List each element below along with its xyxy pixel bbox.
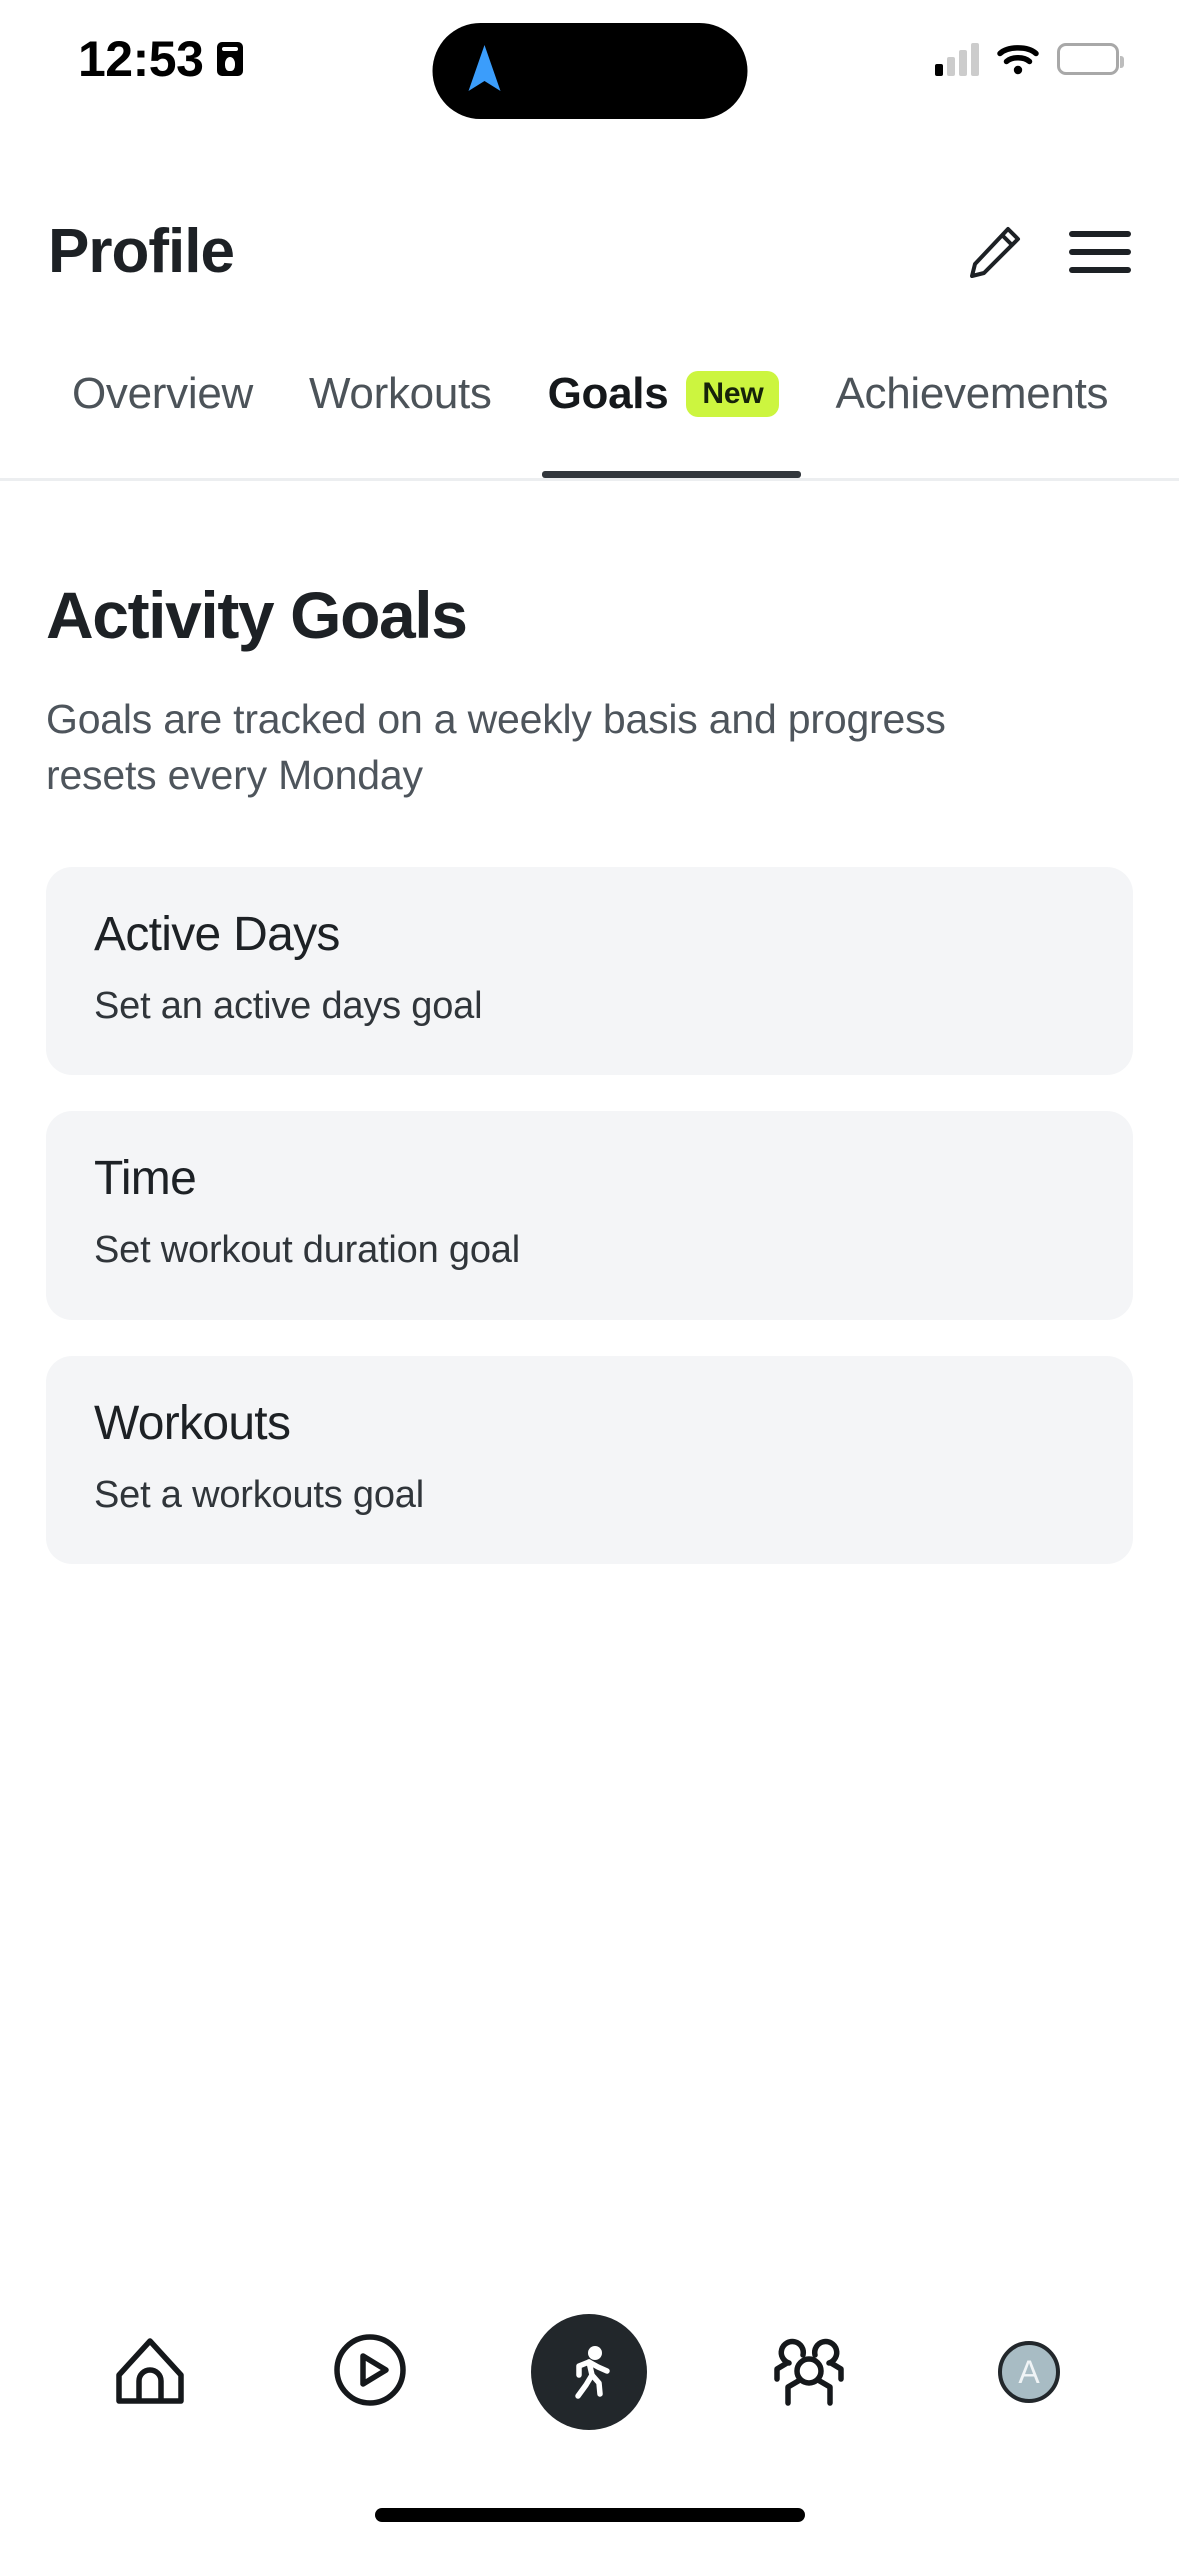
tab-goals[interactable]: Goals New bbox=[520, 348, 808, 478]
phone-screen: 12:53 Prof bbox=[0, 0, 1179, 2556]
tab-label: Overview bbox=[72, 369, 253, 419]
tab-label: Achievements bbox=[835, 369, 1108, 419]
goal-card-title: Active Days bbox=[94, 909, 1085, 962]
people-group-icon bbox=[769, 2333, 849, 2412]
home-indicator bbox=[375, 2508, 805, 2522]
dynamic-island bbox=[432, 23, 747, 119]
goal-card-subtitle: Set workout duration goal bbox=[94, 1228, 1085, 1274]
status-bar-clock: 12:53 bbox=[78, 34, 203, 84]
new-badge: New bbox=[686, 371, 779, 417]
section-title: Activity Goals bbox=[46, 581, 1133, 650]
main-content: Activity Goals Goals are tracked on a we… bbox=[0, 481, 1179, 1564]
nav-item-play[interactable] bbox=[295, 2307, 445, 2437]
profile-tab-bar[interactable]: Overview Workouts Goals New Achievements bbox=[0, 348, 1179, 481]
home-icon bbox=[111, 2331, 189, 2414]
tab-list: Overview Workouts Goals New Achievements bbox=[0, 348, 1179, 478]
goal-card-time[interactable]: Time Set workout duration goal bbox=[46, 1111, 1133, 1319]
goal-card-subtitle: Set an active days goal bbox=[94, 984, 1085, 1030]
cellular-signal-icon bbox=[935, 42, 979, 76]
page-title: Profile bbox=[48, 221, 234, 283]
app-header: Profile bbox=[0, 193, 1179, 311]
goal-card-list: Active Days Set an active days goal Time… bbox=[46, 867, 1133, 1564]
battery-icon bbox=[1057, 43, 1119, 75]
goal-card-title: Workouts bbox=[94, 1398, 1085, 1451]
tab-label: Goals bbox=[548, 369, 669, 419]
section-subtitle: Goals are tracked on a weekly basis and … bbox=[46, 692, 1056, 803]
wifi-icon bbox=[997, 43, 1039, 75]
nav-item-community[interactable] bbox=[734, 2307, 884, 2437]
status-bar-left: 12:53 bbox=[78, 34, 243, 84]
tab-achievements[interactable]: Achievements bbox=[807, 348, 1136, 478]
pencil-edit-icon[interactable] bbox=[963, 221, 1025, 283]
hamburger-menu-icon[interactable] bbox=[1067, 227, 1133, 277]
bottom-navigation-bar: A bbox=[0, 2292, 1179, 2452]
profile-avatar: A bbox=[998, 2341, 1060, 2403]
nav-item-home[interactable] bbox=[75, 2307, 225, 2437]
nav-item-activity[interactable] bbox=[514, 2307, 664, 2437]
tab-label: Workouts bbox=[309, 369, 492, 419]
status-bar-right bbox=[935, 42, 1119, 76]
tab-overview[interactable]: Overview bbox=[44, 348, 281, 478]
screen-record-icon bbox=[217, 42, 243, 76]
running-person-icon bbox=[531, 2314, 647, 2430]
header-actions bbox=[963, 221, 1133, 283]
play-circle-icon bbox=[332, 2332, 408, 2413]
goal-card-title: Time bbox=[94, 1153, 1085, 1206]
goal-card-active-days[interactable]: Active Days Set an active days goal bbox=[46, 867, 1133, 1075]
nav-item-profile[interactable]: A bbox=[954, 2307, 1104, 2437]
tab-workouts[interactable]: Workouts bbox=[281, 348, 520, 478]
goal-card-workouts[interactable]: Workouts Set a workouts goal bbox=[46, 1356, 1133, 1564]
navigation-arrow-icon bbox=[462, 41, 506, 102]
goal-card-subtitle: Set a workouts goal bbox=[94, 1473, 1085, 1519]
